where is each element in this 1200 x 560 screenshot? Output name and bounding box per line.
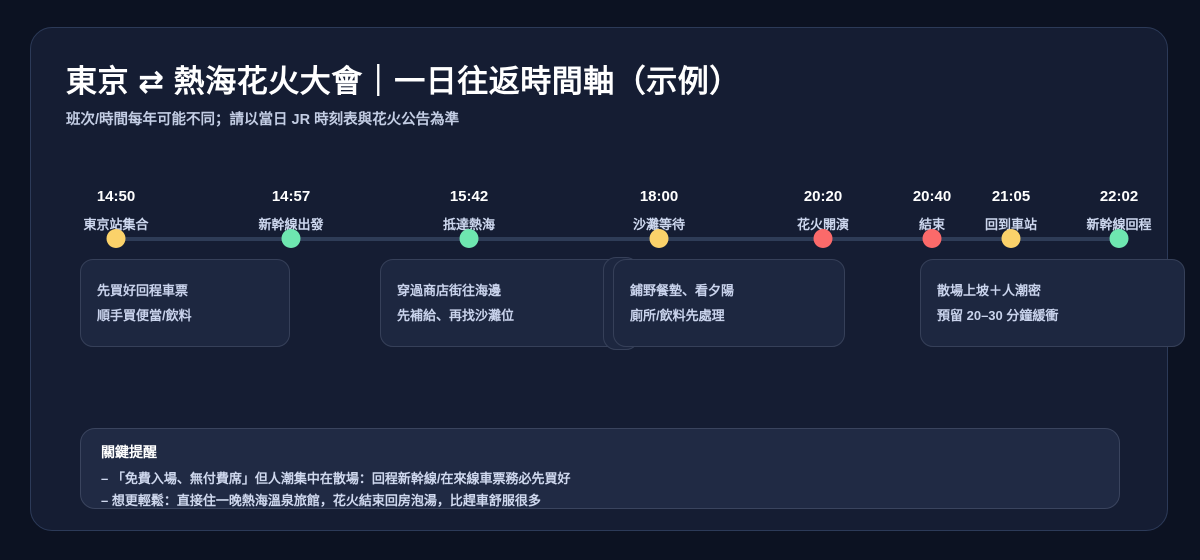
key-notes-title: 關鍵提醒 — [101, 442, 1099, 462]
detail-card-line: 散場上坡＋人潮密 — [937, 278, 1168, 303]
key-notes-items: – 「免費入場、無付費席」但人潮集中在散場：回程新幹線/在來線車票務必先買好– … — [101, 468, 1099, 512]
detail-card-line: 先買好回程車票 — [97, 278, 273, 303]
key-notes-box: 關鍵提醒 – 「免費入場、無付費席」但人潮集中在散場：回程新幹線/在來線車票務必… — [80, 428, 1120, 509]
detail-card: 先買好回程車票順手買便當/飲料 — [80, 259, 290, 347]
key-note-item: – 想更輕鬆：直接住一晚熱海溫泉旅館，花火結束回房泡湯，比趕車舒服很多 — [101, 490, 1099, 512]
page-title: 東京 ⇄ 熱海花火大會｜一日往返時間軸（示例） — [66, 56, 741, 101]
detail-card-line: 順手買便當/飲料 — [97, 303, 273, 328]
timeline-stop-dot[interactable] — [814, 229, 833, 248]
screenshot-root: 東京 ⇄ 熱海花火大會｜一日往返時間軸（示例） 班次/時間每年可能不同；請以當日… — [0, 0, 1200, 560]
timeline-stop-dot[interactable] — [460, 229, 479, 248]
detail-card-line: 穿過商店街往海邊 — [397, 278, 631, 303]
detail-card: 散場上坡＋人潮密預留 20–30 分鐘緩衝 — [920, 259, 1185, 347]
timeline-stop-dot[interactable] — [107, 229, 126, 248]
timeline-stop-dot[interactable] — [282, 229, 301, 248]
timeline-stop-dot[interactable] — [650, 229, 669, 248]
timeline-stop-dot[interactable] — [1002, 229, 1021, 248]
detail-card-line: 廁所/飲料先處理 — [630, 303, 828, 328]
page-subtitle: 班次/時間每年可能不同；請以當日 JR 時刻表與花火公告為準 — [66, 108, 459, 129]
detail-card-line: 先補給、再找沙灘位 — [397, 303, 631, 328]
key-note-item: – 「免費入場、無付費席」但人潮集中在散場：回程新幹線/在來線車票務必先買好 — [101, 468, 1099, 490]
detail-card-line: 鋪野餐墊、看夕陽 — [630, 278, 828, 303]
detail-card-line: 預留 20–30 分鐘緩衝 — [937, 303, 1168, 328]
detail-card: 鋪野餐墊、看夕陽廁所/飲料先處理 — [613, 259, 845, 347]
timeline-stop-dot[interactable] — [1110, 229, 1129, 248]
timeline-stop-dot[interactable] — [923, 229, 942, 248]
